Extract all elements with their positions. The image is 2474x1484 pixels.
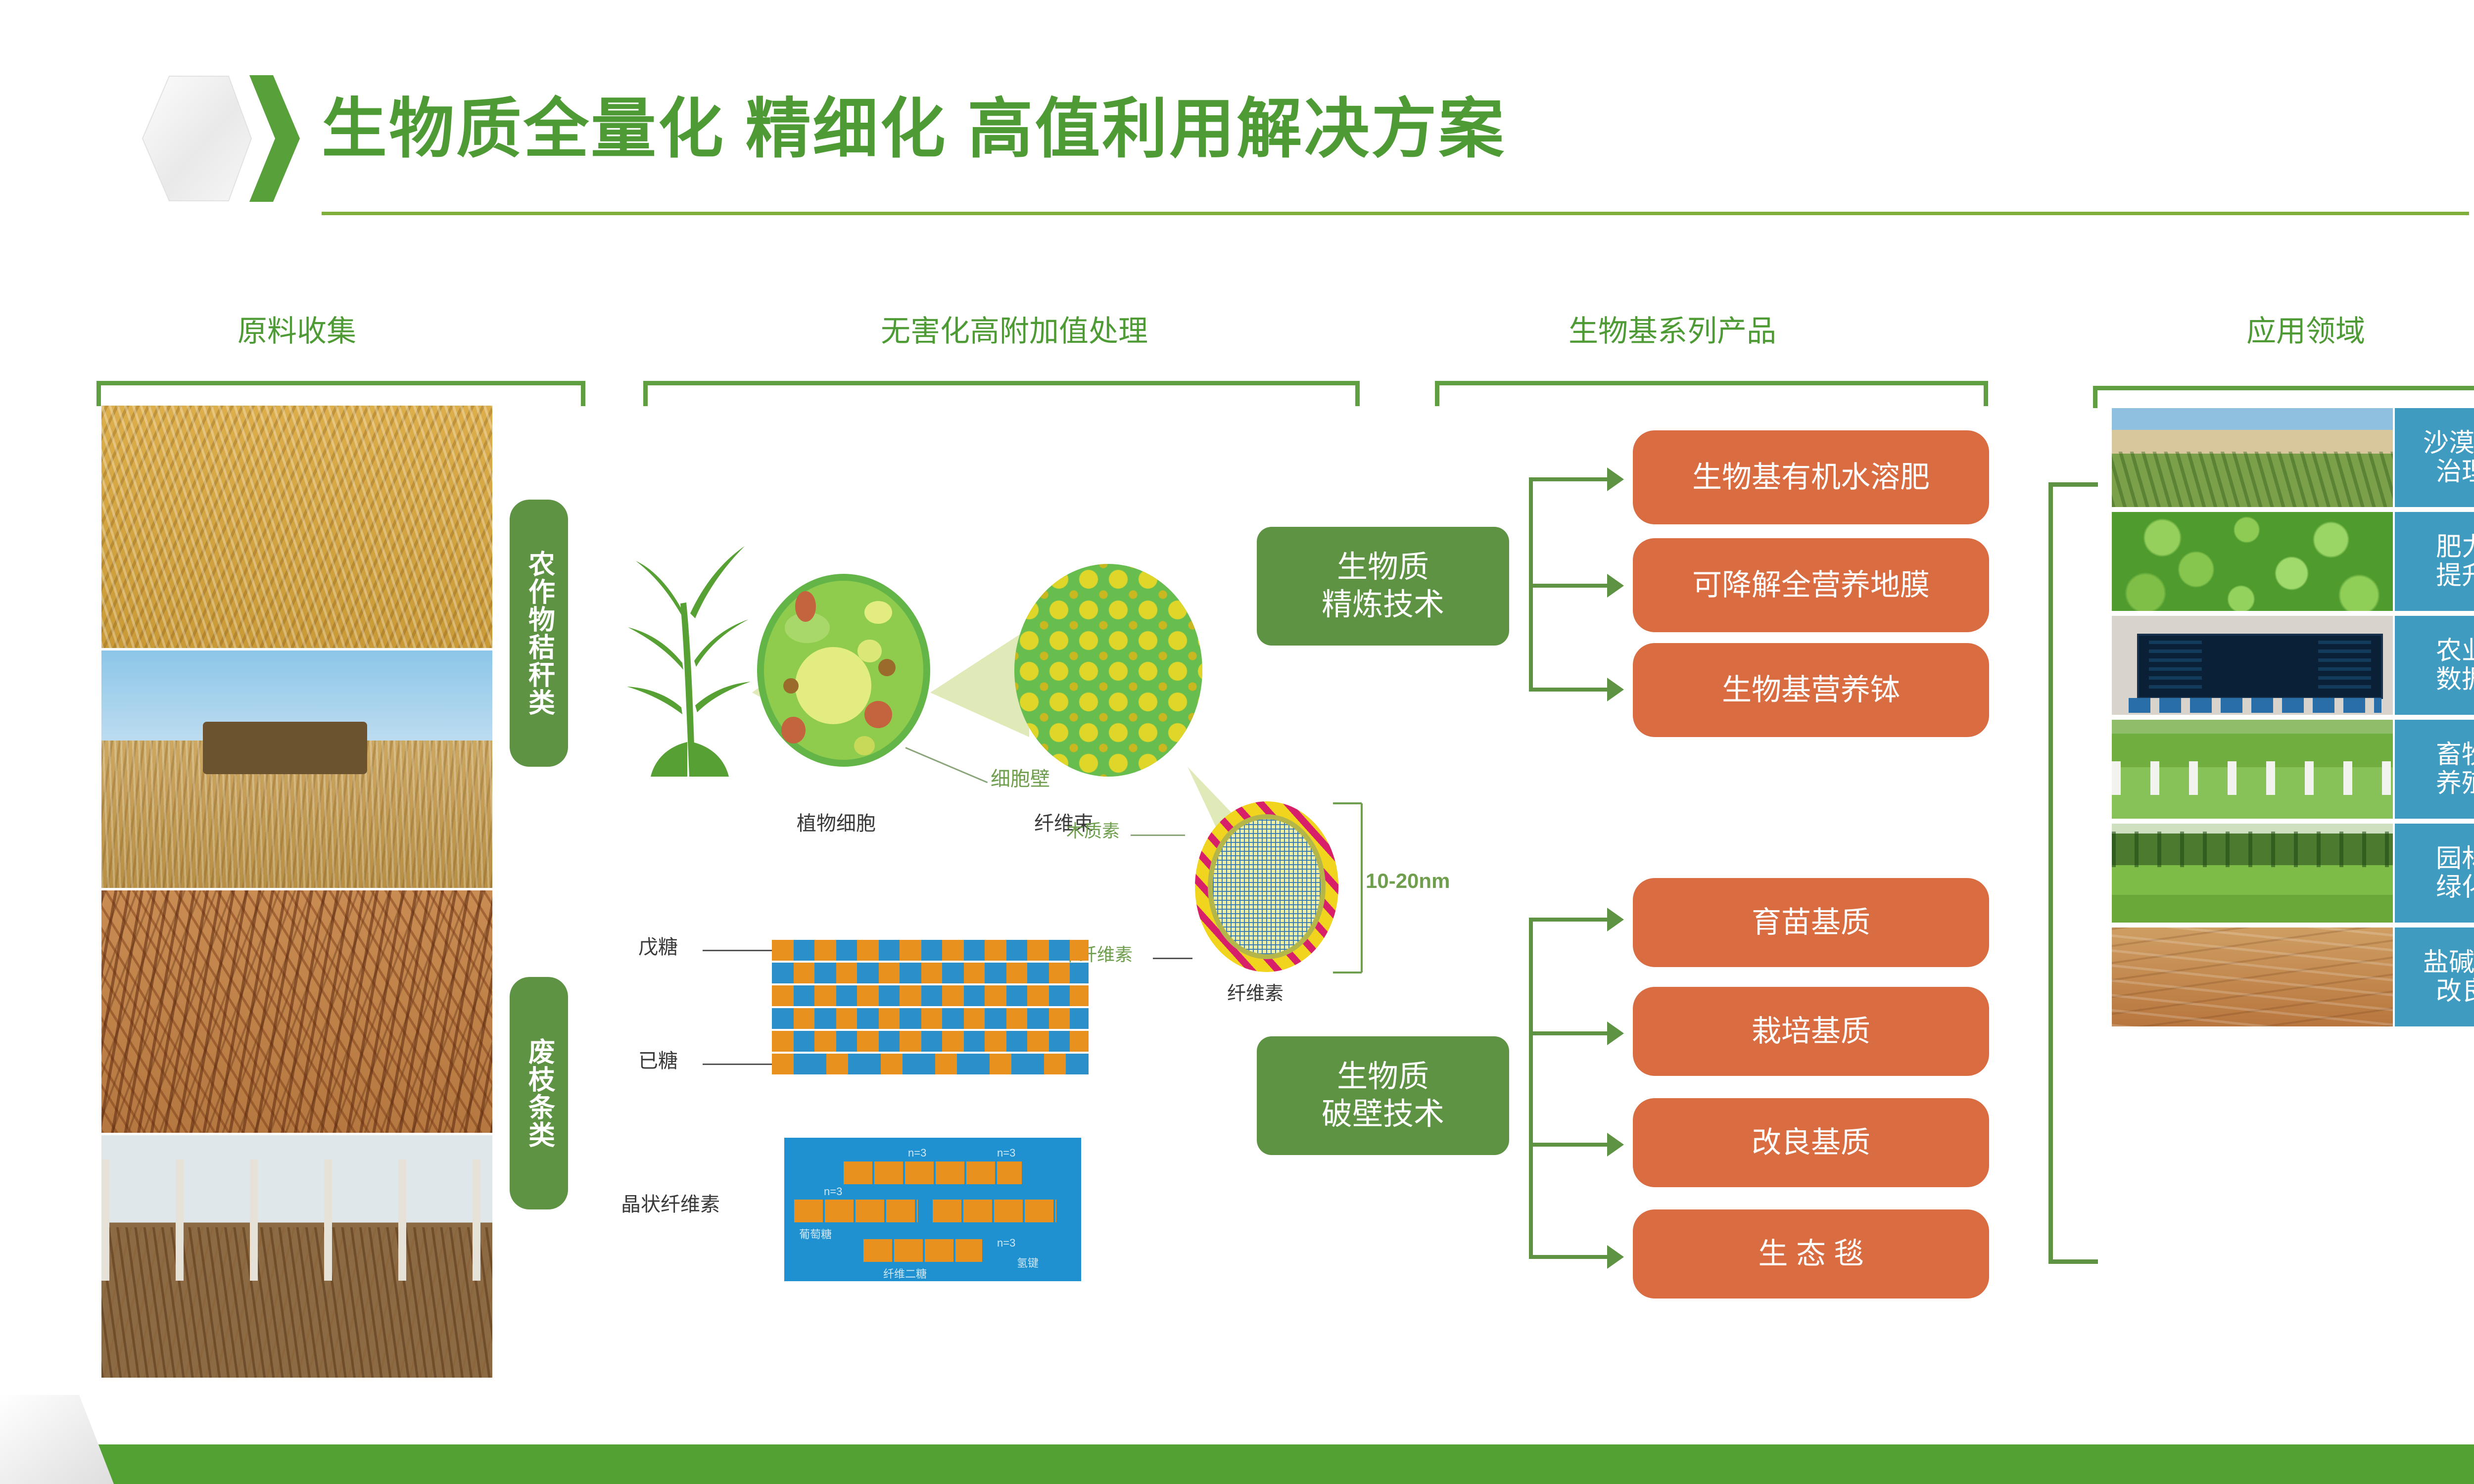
product-bio-organic-fertilizer[interactable]: 生物基有机水溶肥 <box>1633 430 1989 524</box>
column-heading-raw-material: 原料收集 <box>99 317 495 346</box>
hemicellulose-leader-line <box>1153 958 1192 959</box>
connector-products-to-applications-bottom <box>2048 1259 2098 1264</box>
label-fibre-dimension: 10-20nm <box>1366 871 1450 891</box>
technology-wall-breaking-line2: 破壁技术 <box>1322 1096 1444 1133</box>
application-fertility-improvement[interactable]: 肥力 提升 <box>2395 512 2474 611</box>
hexagon-badge-icon <box>140 74 253 203</box>
photo-pruned-branches <box>101 890 492 1133</box>
bracket-processing <box>643 381 1360 406</box>
application-livestock-breeding[interactable]: 畜牧 养殖 <box>2395 720 2474 819</box>
connector-wallbreaking-branch-1 <box>1529 918 1608 922</box>
product-seedling-substrate[interactable]: 育苗基质 <box>1633 878 1989 967</box>
footer-wedge-decoration <box>0 1370 168 1484</box>
fiber-bundle-illustration <box>1014 564 1202 777</box>
bracket-applications <box>2093 386 2474 408</box>
arrow-wallbreaking-product-2 <box>1607 1021 1624 1045</box>
photo-park-landscape <box>2112 824 2393 923</box>
cellulose-fibre-illustration <box>1195 801 1338 972</box>
crystal-label-n2: n=3 <box>997 1147 1015 1159</box>
hexose-leader-line <box>703 1064 772 1065</box>
connector-wallbreaking-branch-3 <box>1529 1143 1608 1147</box>
connector-refining-branch-3 <box>1529 688 1608 692</box>
photo-sheep-pasture <box>2112 720 2393 819</box>
technology-wall-breaking-line1: 生物质 <box>1322 1058 1444 1096</box>
product-improvement-substrate[interactable]: 改良基质 <box>1633 1098 1989 1187</box>
application-livestock-breeding-line2: 养殖 <box>2436 769 2474 798</box>
application-saline-land-improvement[interactable]: 盐碱地 改良 <box>2395 927 2474 1026</box>
technology-refining-line2: 精炼技术 <box>1322 586 1444 624</box>
label-crystalline-cellulose: 晶状纤维素 <box>621 1195 720 1214</box>
plant-cell-illustration <box>757 574 930 767</box>
arrow-refining-product-2 <box>1607 574 1624 598</box>
technology-refining-line1: 生物质 <box>1322 549 1444 586</box>
technology-refining[interactable]: 生物质 精炼技术 <box>1257 527 1509 646</box>
crystalline-cellulose-illustration: n=3 n=3 n=3 n=3 纤维二糖 氢键 葡萄糖 <box>784 1138 1081 1281</box>
application-landscape-greening-line1: 园林 <box>2436 844 2474 873</box>
photo-desert-control <box>2112 408 2393 507</box>
product-ecological-blanket[interactable]: 生 态 毯 <box>1633 1209 1989 1298</box>
title-underline <box>322 212 2469 215</box>
application-livestock-breeding-line1: 畜牧 <box>2436 741 2474 769</box>
column-heading-processing: 无害化高附加值处理 <box>633 317 1395 346</box>
connector-products-to-applications-top <box>2048 482 2098 487</box>
raw-category-crop-straw: 农作物秸秆类 <box>510 500 568 767</box>
arrow-wallbreaking-product-1 <box>1607 908 1624 931</box>
crystal-label-glucose: 葡萄糖 <box>799 1226 832 1242</box>
raw-category-waste-branch-label: 废枝条类 <box>525 1038 552 1149</box>
arrow-wallbreaking-product-3 <box>1607 1133 1624 1157</box>
connector-wallbreaking-vertical <box>1529 918 1533 1259</box>
application-agriculture-data-line1: 农业 <box>2436 637 2474 665</box>
connector-wallbreaking-branch-2 <box>1529 1031 1608 1035</box>
photo-corn-straw-field <box>101 406 492 648</box>
connector-products-to-applications-vertical <box>2048 482 2053 1264</box>
application-landscape-greening-line2: 绿化 <box>2436 873 2474 902</box>
label-lignin: 木质素 <box>1066 822 1120 840</box>
crystal-label-n3: n=3 <box>824 1185 842 1198</box>
page-title: 生物质全量化 精细化 高值利用解决方案 <box>322 96 1506 162</box>
photo-agriculture-data-center <box>2112 616 2393 715</box>
product-bio-nutrient-pot[interactable]: 生物基营养钵 <box>1633 643 1989 737</box>
raw-category-crop-straw-label: 农作物秸秆类 <box>525 550 552 716</box>
arrow-refining-product-1 <box>1607 467 1624 491</box>
raw-category-waste-branch: 废枝条类 <box>510 977 568 1209</box>
application-desert-control[interactable]: 沙漠化 治理 <box>2395 408 2474 507</box>
grass-plant-icon <box>621 544 760 791</box>
product-cultivation-substrate[interactable]: 栽培基质 <box>1633 987 1989 1076</box>
crystal-label-n1: n=3 <box>908 1147 926 1159</box>
application-agriculture-data[interactable]: 农业 数据 <box>2395 616 2474 715</box>
photo-saline-land <box>2112 927 2393 1026</box>
application-agriculture-data-line2: 数据 <box>2436 665 2474 694</box>
photo-baled-straw-field <box>101 650 492 888</box>
application-saline-land-improvement-line2: 改良 <box>2423 977 2474 1006</box>
label-pentose: 戊糖 <box>638 937 678 957</box>
lignin-leader-line <box>1131 835 1185 836</box>
crystal-label-n4: n=3 <box>997 1237 1015 1250</box>
technology-wall-breaking[interactable]: 生物质 破壁技术 <box>1257 1036 1509 1155</box>
application-desert-control-line2: 治理 <box>2423 458 2474 486</box>
application-fertility-improvement-line1: 肥力 <box>2436 533 2474 561</box>
dimension-bracket <box>1331 801 1371 974</box>
product-degradable-mulch-film[interactable]: 可降解全营养地膜 <box>1633 538 1989 632</box>
connector-refining-branch-1 <box>1529 477 1608 481</box>
application-saline-land-improvement-line1: 盐碱地 <box>2423 948 2474 977</box>
connector-wallbreaking-branch-4 <box>1529 1255 1608 1259</box>
footer-band <box>0 1444 2474 1484</box>
page-header: 生物质全量化 精细化 高值利用解决方案 <box>0 0 2474 232</box>
bracket-raw-material <box>96 381 585 406</box>
sugar-chain-illustration <box>772 940 1089 1083</box>
application-landscape-greening[interactable]: 园林 绿化 <box>2395 824 2474 923</box>
bracket-products <box>1435 381 1988 406</box>
label-plant-cell: 植物细胞 <box>797 814 876 834</box>
label-hexose: 已糖 <box>638 1051 678 1071</box>
column-heading-products: 生物基系列产品 <box>1425 317 1920 346</box>
crystal-label-cellobiose: 纤维二糖 <box>883 1265 927 1281</box>
label-cellulose: 纤维素 <box>1227 984 1284 1003</box>
chevron-right-icon <box>247 75 302 202</box>
pentose-leader-line <box>703 950 772 951</box>
photo-cabbage-field <box>2112 512 2393 611</box>
application-desert-control-line1: 沙漠化 <box>2423 429 2474 458</box>
application-fertility-improvement-line2: 提升 <box>2436 561 2474 590</box>
arrow-wallbreaking-product-4 <box>1607 1245 1624 1269</box>
connector-refining-branch-2 <box>1529 584 1608 588</box>
column-heading-applications: 应用领域 <box>2058 317 2474 346</box>
crystal-label-hydrogen-bond: 氢键 <box>1017 1254 1039 1270</box>
photo-vineyard-pruning <box>101 1135 492 1378</box>
arrow-refining-product-3 <box>1607 678 1624 701</box>
